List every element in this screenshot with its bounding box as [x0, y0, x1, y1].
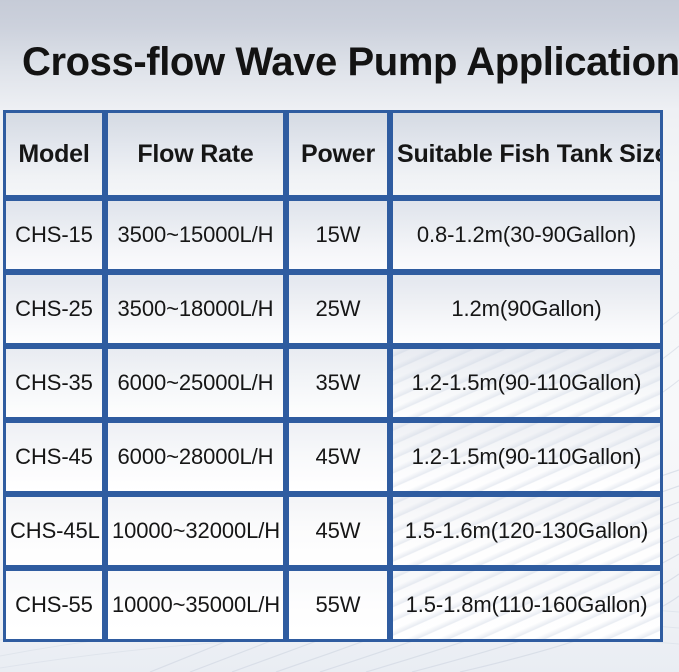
- cell-power: 45W: [286, 420, 390, 494]
- cell-flow-rate: 3500~15000L/H: [105, 198, 286, 272]
- cell-flow-rate: 6000~25000L/H: [105, 346, 286, 420]
- cell-model-value: CHS-25: [10, 296, 98, 322]
- cell-power-value: 55W: [293, 592, 383, 618]
- cell-power-value: 45W: [293, 444, 383, 470]
- cell-flow-rate-value: 10000~32000L/H: [112, 518, 279, 544]
- table-header-row: Model Flow Rate Power Suitable Fish Tank…: [3, 110, 663, 198]
- table-row: CHS-55 10000~35000L/H 55W 1.5-1.8m(110-1…: [3, 568, 663, 642]
- column-header-flow-rate-label: Flow Rate: [112, 140, 279, 169]
- cell-model-value: CHS-15: [10, 222, 98, 248]
- cell-flow-rate-value: 6000~25000L/H: [112, 370, 279, 396]
- table-row: CHS-25 3500~18000L/H 25W 1.2m(90Gallon): [3, 272, 663, 346]
- cell-tank-size: 1.2m(90Gallon): [390, 272, 663, 346]
- cell-flow-rate: 6000~28000L/H: [105, 420, 286, 494]
- cell-tank-size: 0.8-1.2m(30-90Gallon): [390, 198, 663, 272]
- cell-power: 35W: [286, 346, 390, 420]
- cell-tank-size: 1.5-1.6m(120-130Gallon): [390, 494, 663, 568]
- cell-tank-size: 1.5-1.8m(110-160Gallon): [390, 568, 663, 642]
- cell-power: 45W: [286, 494, 390, 568]
- cell-power-value: 15W: [293, 222, 383, 248]
- cell-model: CHS-25: [3, 272, 105, 346]
- cell-model: CHS-45: [3, 420, 105, 494]
- column-header-flow-rate: Flow Rate: [105, 110, 286, 198]
- cell-tank-size-value: 1.5-1.6m(120-130Gallon): [397, 518, 656, 544]
- cell-flow-rate-value: 3500~15000L/H: [112, 222, 279, 248]
- cell-power: 25W: [286, 272, 390, 346]
- cell-power: 55W: [286, 568, 390, 642]
- cell-power-value: 45W: [293, 518, 383, 544]
- column-header-model: Model: [3, 110, 105, 198]
- column-header-power: Power: [286, 110, 390, 198]
- specification-table: Model Flow Rate Power Suitable Fish Tank…: [3, 110, 663, 642]
- cell-flow-rate: 10000~32000L/H: [105, 494, 286, 568]
- cell-model-value: CHS-45: [10, 444, 98, 470]
- cell-power-value: 25W: [293, 296, 383, 322]
- cell-tank-size-value: 1.5-1.8m(110-160Gallon): [397, 592, 656, 618]
- cell-flow-rate-value: 6000~28000L/H: [112, 444, 279, 470]
- cell-tank-size-value: 1.2-1.5m(90-110Gallon): [397, 370, 656, 396]
- cell-model-value: CHS-55: [10, 592, 98, 618]
- page-title: Cross-flow Wave Pump Application: [22, 38, 667, 86]
- cell-tank-size-value: 1.2m(90Gallon): [397, 296, 656, 322]
- cell-model-value: CHS-35: [10, 370, 98, 396]
- column-header-model-label: Model: [10, 140, 98, 169]
- column-header-tank-size: Suitable Fish Tank Size: [390, 110, 663, 198]
- cell-flow-rate: 10000~35000L/H: [105, 568, 286, 642]
- cell-tank-size-value: 0.8-1.2m(30-90Gallon): [397, 222, 656, 248]
- cell-model: CHS-35: [3, 346, 105, 420]
- table-row: CHS-45L 10000~32000L/H 45W 1.5-1.6m(120-…: [3, 494, 663, 568]
- cell-tank-size: 1.2-1.5m(90-110Gallon): [390, 346, 663, 420]
- cell-model: CHS-15: [3, 198, 105, 272]
- cell-flow-rate-value: 10000~35000L/H: [112, 592, 279, 618]
- table-row: CHS-15 3500~15000L/H 15W 0.8-1.2m(30-90G…: [3, 198, 663, 272]
- table-row: CHS-45 6000~28000L/H 45W 1.2-1.5m(90-110…: [3, 420, 663, 494]
- table-row: CHS-35 6000~25000L/H 35W 1.2-1.5m(90-110…: [3, 346, 663, 420]
- cell-power: 15W: [286, 198, 390, 272]
- column-header-power-label: Power: [293, 140, 383, 169]
- cell-flow-rate-value: 3500~18000L/H: [112, 296, 279, 322]
- column-header-tank-size-label: Suitable Fish Tank Size: [397, 140, 656, 169]
- table-body: CHS-15 3500~15000L/H 15W 0.8-1.2m(30-90G…: [3, 198, 663, 642]
- table-header: Model Flow Rate Power Suitable Fish Tank…: [3, 110, 663, 198]
- cell-tank-size: 1.2-1.5m(90-110Gallon): [390, 420, 663, 494]
- cell-power-value: 35W: [293, 370, 383, 396]
- cell-model: CHS-55: [3, 568, 105, 642]
- cell-tank-size-value: 1.2-1.5m(90-110Gallon): [397, 444, 656, 470]
- cell-model-value: CHS-45L: [10, 518, 98, 544]
- cell-model: CHS-45L: [3, 494, 105, 568]
- cell-flow-rate: 3500~18000L/H: [105, 272, 286, 346]
